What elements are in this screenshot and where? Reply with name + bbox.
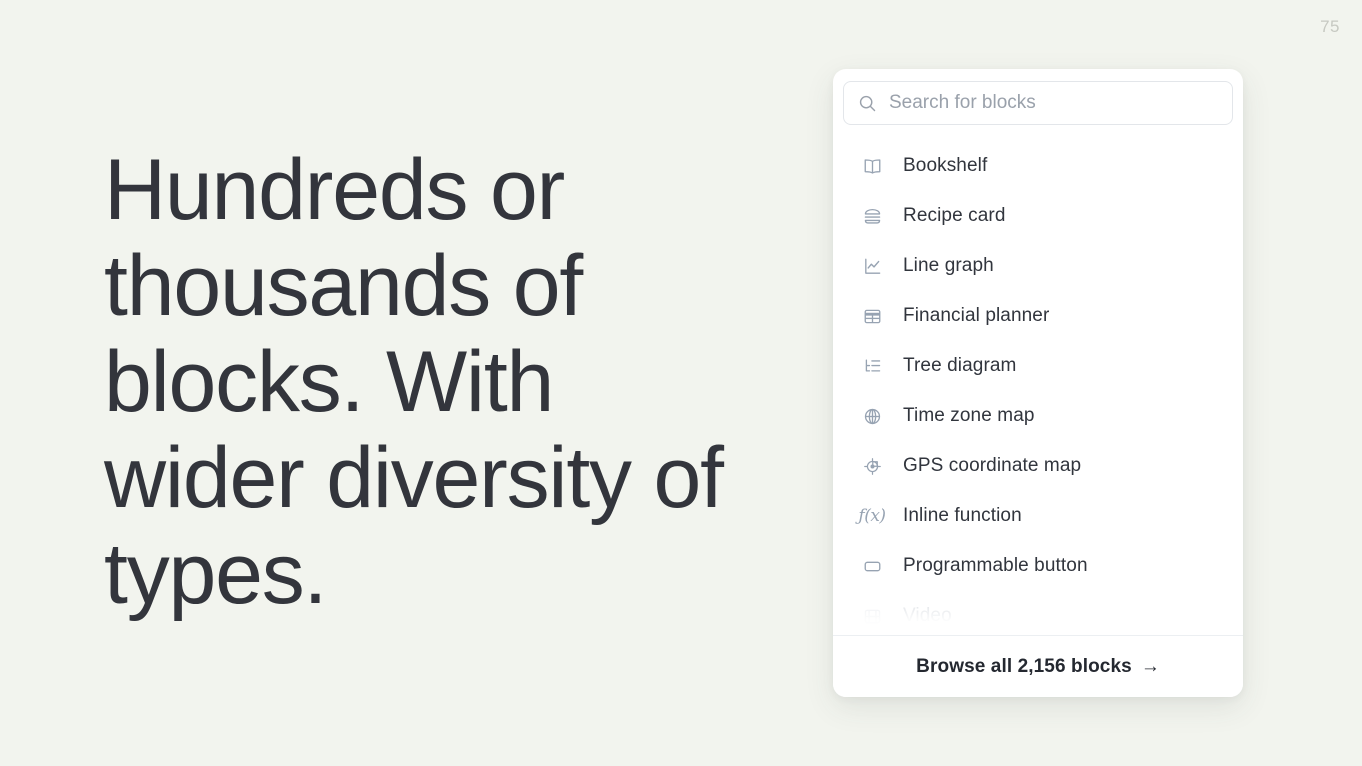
list-item-programmable-button[interactable]: Programmable button: [833, 541, 1243, 591]
list-item-label: GPS coordinate map: [903, 455, 1081, 477]
table-grid-icon: [861, 305, 883, 327]
list-item-bookshelf[interactable]: Bookshelf: [833, 141, 1243, 191]
list-item-label: Line graph: [903, 255, 994, 277]
globe-icon: [861, 405, 883, 427]
list-item-label: Programmable button: [903, 555, 1088, 577]
fx-icon: ƒ(x): [861, 505, 883, 527]
crosshair-icon: [861, 455, 883, 477]
page-title: Hundreds or thousands of blocks. With wi…: [104, 142, 764, 622]
search-box[interactable]: [843, 81, 1233, 125]
list-item-line-graph[interactable]: Line graph: [833, 241, 1243, 291]
list-item-label: Recipe card: [903, 205, 1005, 227]
list-item-label: Inline function: [903, 505, 1022, 527]
block-picker-card: Bookshelf Recipe card Line graph: [833, 69, 1243, 697]
search-icon: [858, 94, 877, 113]
list-item-label: Tree diagram: [903, 355, 1016, 377]
list-item-financial-planner[interactable]: Financial planner: [833, 291, 1243, 341]
search-container: [833, 69, 1243, 131]
block-list[interactable]: Bookshelf Recipe card Line graph: [833, 131, 1243, 635]
list-item-tree-diagram[interactable]: Tree diagram: [833, 341, 1243, 391]
page-number: 75: [1320, 17, 1340, 37]
list-item-inline-function[interactable]: ƒ(x) Inline function: [833, 491, 1243, 541]
list-item-time-zone-map[interactable]: Time zone map: [833, 391, 1243, 441]
rounded-rect-icon: [861, 555, 883, 577]
arrow-right-icon: →: [1141, 657, 1160, 676]
search-input[interactable]: [889, 92, 1218, 114]
list-item-label: Bookshelf: [903, 155, 987, 177]
film-strip-icon: [861, 605, 883, 627]
line-chart-icon: [861, 255, 883, 277]
browse-all-blocks-button[interactable]: Browse all 2,156 blocks →: [833, 635, 1243, 697]
list-item-label: Video: [903, 605, 952, 627]
list-item-gps-coordinate-map[interactable]: GPS coordinate map: [833, 441, 1243, 491]
list-item-recipe-card[interactable]: Recipe card: [833, 191, 1243, 241]
list-item-video[interactable]: Video: [833, 591, 1243, 635]
browse-all-label: Browse all 2,156 blocks: [916, 656, 1132, 678]
list-item-label: Time zone map: [903, 405, 1035, 427]
tree-hierarchy-icon: [861, 355, 883, 377]
book-open-icon: [861, 155, 883, 177]
list-item-label: Financial planner: [903, 305, 1049, 327]
layers-stack-icon: [861, 205, 883, 227]
